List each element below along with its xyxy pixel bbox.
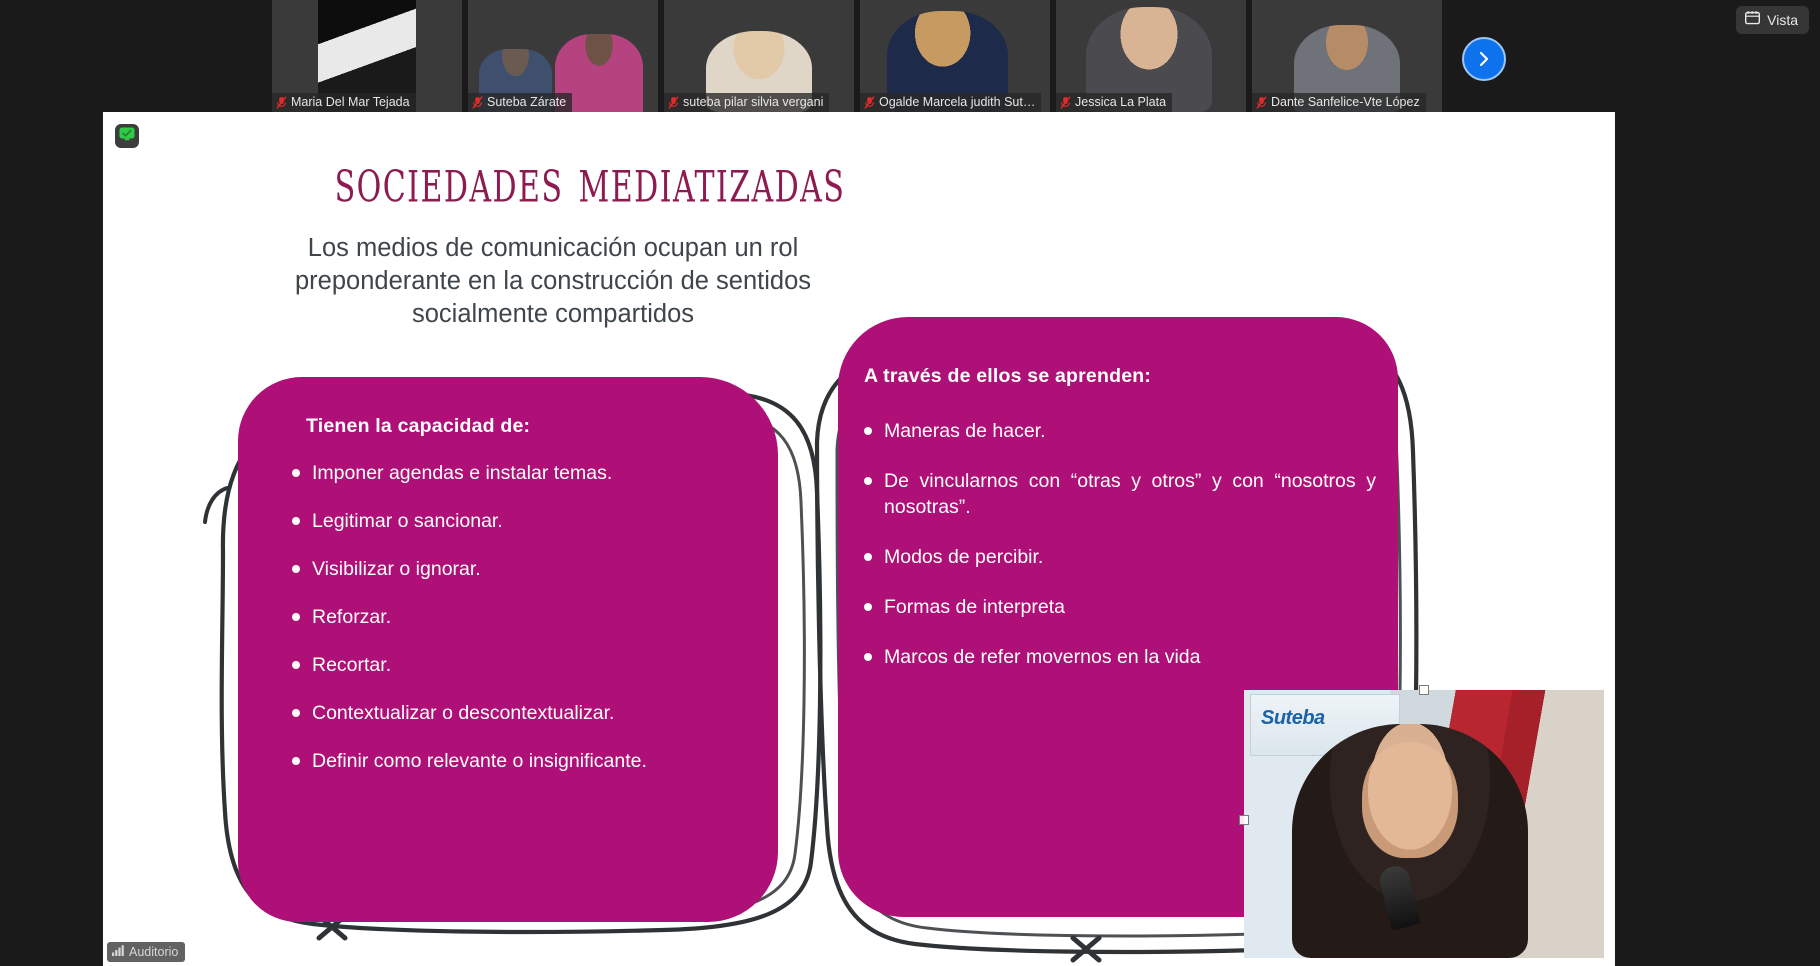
participant-name: Dante Sanfelice-Vte López (1271, 93, 1420, 112)
mic-muted-icon (864, 96, 875, 109)
participant-name: suteba pilar silvia vergani (683, 93, 823, 112)
participant-tiles: Maria Del Mar Tejada Suteba Zárate (272, 0, 1442, 112)
mic-muted-icon (668, 96, 679, 109)
participant-name-bar: Dante Sanfelice-Vte López (1252, 93, 1426, 112)
view-button-label: Vista (1767, 6, 1798, 34)
list-item: Modos de percibir. (864, 544, 1376, 570)
participant-name-bar: Jessica La Plata (1056, 93, 1172, 112)
view-button[interactable]: Vista (1736, 6, 1809, 34)
audio-source-label: Auditorio (129, 942, 178, 962)
participant-tile[interactable]: suteba pilar silvia vergani (664, 0, 854, 112)
left-box-heading: Tienen la capacidad de: (306, 415, 760, 438)
list-item: De vincularnos con “otras y otros” y con… (864, 468, 1376, 520)
participant-name: Maria Del Mar Tejada (291, 93, 410, 112)
participant-name-bar: Maria Del Mar Tejada (272, 93, 416, 112)
participant-tile[interactable]: Maria Del Mar Tejada (272, 0, 462, 112)
list-item: Legitimar o sancionar. (284, 508, 760, 534)
layout-grid-icon (1745, 11, 1760, 30)
participant-name-bar: Ogalde Marcela judith Sut… (860, 93, 1041, 112)
mic-muted-icon (276, 96, 287, 109)
list-item: Marcos de refer movernos en la vida (864, 644, 1376, 670)
list-item: Contextualizar o descontextualizar. (284, 700, 760, 726)
list-item: Imponer agendas e instalar temas. (284, 460, 760, 486)
pip-speaker-face (1362, 742, 1458, 858)
participant-tile[interactable]: Jessica La Plata (1056, 0, 1246, 112)
participant-filmstrip: Maria Del Mar Tejada Suteba Zárate (0, 0, 1820, 112)
list-item: Formas de interpreta (864, 594, 1376, 620)
screen-share-secure-badge[interactable] (115, 124, 139, 148)
pip-resize-handle-left[interactable] (1239, 815, 1249, 825)
right-box-bullet-list: Maneras de hacer. De vincularnos con “ot… (864, 418, 1376, 670)
list-item: Maneras de hacer. (864, 418, 1376, 444)
left-content-box: Tienen la capacidad de: Imponer agendas … (238, 377, 778, 922)
participant-name: Ogalde Marcela judith Sut… (879, 93, 1035, 112)
list-item: Recortar. (284, 652, 760, 678)
list-item: Reforzar. (284, 604, 760, 630)
slide-title: Sociedades mediatizadas (308, 144, 872, 216)
mic-muted-icon (1256, 96, 1267, 109)
slide-subtitle: Los medios de comunicación ocupan un rol… (243, 232, 863, 331)
zoom-meeting-window: Maria Del Mar Tejada Suteba Zárate (0, 0, 1820, 966)
screen-share-secure-icon (119, 127, 135, 146)
participant-name-bar: suteba pilar silvia vergani (664, 93, 829, 112)
participant-tile[interactable]: Dante Sanfelice-Vte López (1252, 0, 1442, 112)
participant-name-bar: Suteba Zárate (468, 93, 572, 112)
mic-muted-icon (1060, 96, 1071, 109)
list-item: Definir como relevante o insignificante. (284, 748, 760, 774)
left-box-bullet-list: Imponer agendas e instalar temas. Legiti… (284, 460, 760, 774)
right-box-heading: A través de ellos se aprenden: (864, 365, 1376, 388)
pip-resize-handle-top[interactable] (1419, 685, 1429, 695)
participant-name: Jessica La Plata (1075, 93, 1166, 112)
next-participants-page-button[interactable] (1462, 37, 1506, 81)
active-speaker-pip[interactable]: Suteba (1244, 690, 1604, 958)
audio-bars-icon (112, 943, 124, 961)
chevron-right-icon (1475, 50, 1493, 68)
participant-tile[interactable]: Ogalde Marcela judith Sut… (860, 0, 1050, 112)
participant-tile[interactable]: Suteba Zárate (468, 0, 658, 112)
mic-muted-icon (472, 96, 483, 109)
pip-banner-text: Suteba (1261, 707, 1325, 730)
audio-source-indicator[interactable]: Auditorio (107, 942, 185, 962)
list-item: Visibilizar o ignorar. (284, 556, 760, 582)
participant-name: Suteba Zárate (487, 93, 566, 112)
